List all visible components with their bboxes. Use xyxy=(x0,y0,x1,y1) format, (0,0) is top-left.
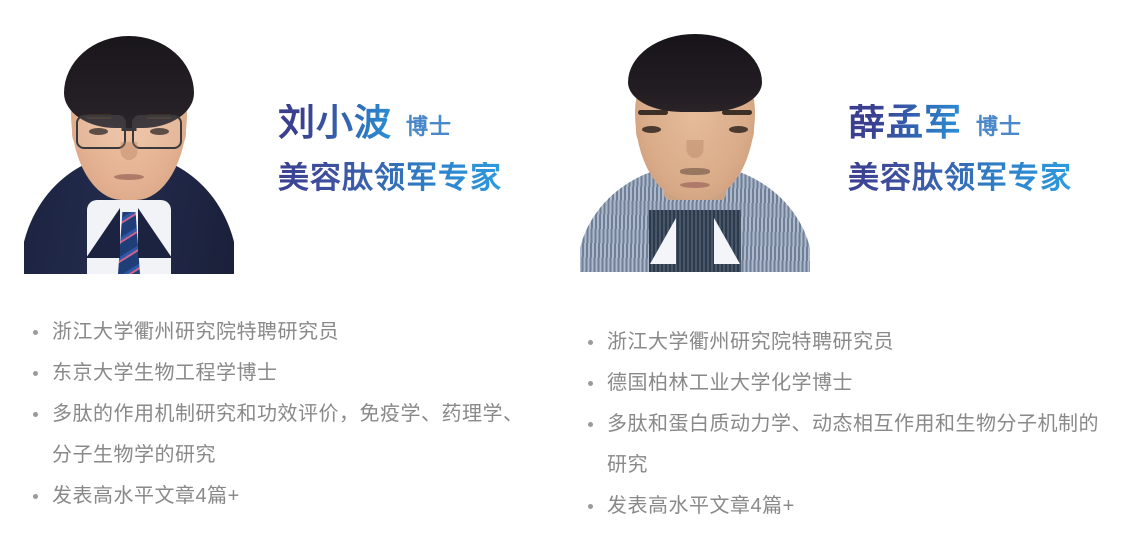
list-item: 浙江大学衢州研究院特聘研究员 xyxy=(30,312,540,353)
list-item: 德国柏林工业大学化学博士 xyxy=(585,363,1105,404)
expert-titles-0: 刘小波 博士 美容肽领军专家 xyxy=(278,104,502,193)
expert-credentials-list-0: 浙江大学衢州研究院特聘研究员 东京大学生物工程学博士 多肽的作用机制研究和功效评… xyxy=(30,312,540,517)
eye-left xyxy=(642,126,661,133)
collar-right xyxy=(714,218,740,264)
nose xyxy=(121,142,138,160)
experts-row: 刘小波 博士 美容肽领军专家 浙江大学衢州研究院特聘研究员 东京大学生物工程学博… xyxy=(0,0,1141,541)
portrait-photo-icon xyxy=(24,2,234,274)
mouth xyxy=(680,182,710,188)
nose xyxy=(687,140,704,158)
list-item: 浙江大学衢州研究院特聘研究员 xyxy=(585,322,1105,363)
expert-card-0: 刘小波 博士 美容肽领军专家 浙江大学衢州研究院特聘研究员 东京大学生物工程学博… xyxy=(0,0,570,541)
expert-portrait-0 xyxy=(24,2,234,274)
list-item: 多肽的作用机制研究和功效评价，免疫学、药理学、分子生物学的研究 xyxy=(30,394,540,476)
expert-credentials-list-1: 浙江大学衢州研究院特聘研究员 德国柏林工业大学化学博士 多肽和蛋白质动力学、动态… xyxy=(585,322,1105,527)
expert-name: 刘小波 xyxy=(278,104,392,141)
list-item: 多肽和蛋白质动力学、动态相互作用和生物分子机制的研究 xyxy=(585,404,1105,486)
expert-name: 薛孟军 xyxy=(848,104,962,141)
collar-left xyxy=(86,208,120,258)
portrait-photo-icon xyxy=(580,6,810,272)
list-item: 发表高水平文章4篇+ xyxy=(30,476,540,517)
expert-header-0: 刘小波 博士 美容肽领军专家 xyxy=(0,0,570,290)
list-item: 发表高水平文章4篇+ xyxy=(585,486,1105,527)
expert-titles-1: 薛孟军 博士 美容肽领军专家 xyxy=(848,104,1072,193)
eyeglasses-bridge xyxy=(122,128,137,131)
eyebrow-right xyxy=(722,110,752,115)
collar-left xyxy=(650,218,676,264)
eye-right xyxy=(729,126,748,133)
expert-tagline: 美容肽领军专家 xyxy=(848,162,1072,193)
mouth xyxy=(114,174,144,180)
mustache xyxy=(680,168,710,175)
expert-name-row-1: 薛孟军 博士 xyxy=(848,104,1072,141)
eyeglasses-left-lens xyxy=(76,115,126,149)
expert-profiles-page: 刘小波 博士 美容肽领军专家 浙江大学衢州研究院特聘研究员 东京大学生物工程学博… xyxy=(0,0,1141,541)
expert-degree: 博士 xyxy=(406,116,452,141)
expert-card-1: 薛孟军 博士 美容肽领军专家 浙江大学衢州研究院特聘研究员 德国柏林工业大学化学… xyxy=(570,0,1140,541)
expert-tagline: 美容肽领军专家 xyxy=(278,162,502,193)
eyebrow-left xyxy=(638,110,668,115)
expert-degree: 博士 xyxy=(976,116,1022,141)
expert-name-row-0: 刘小波 博士 xyxy=(278,104,502,141)
hair xyxy=(628,34,762,112)
expert-header-1: 薛孟军 博士 美容肽领军专家 xyxy=(570,0,1140,290)
list-item: 东京大学生物工程学博士 xyxy=(30,353,540,394)
eyeglasses-right-lens xyxy=(132,115,182,149)
expert-portrait-1 xyxy=(580,6,810,272)
collar-right xyxy=(138,208,172,258)
